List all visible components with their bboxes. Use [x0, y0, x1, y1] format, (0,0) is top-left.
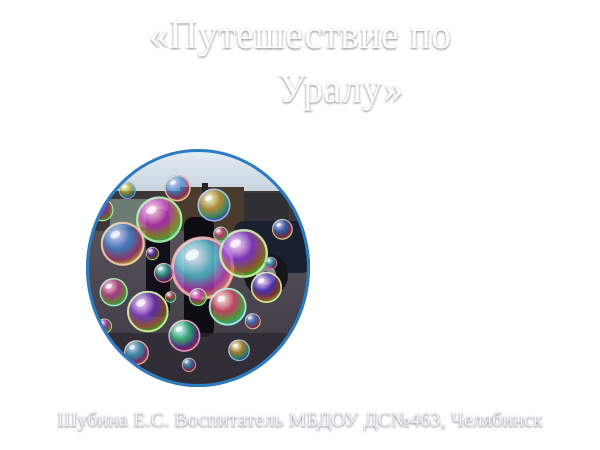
bubbles-photo-svg — [84, 147, 312, 389]
presentation-slide: «Путешествие по Уралу» — [0, 0, 600, 450]
circular-photo-bubbles — [84, 147, 312, 389]
title-line-2: Уралу» — [0, 62, 600, 116]
author-attribution: Шубина Е.С. Воспитатель МБДОУ ДС№463, Че… — [0, 407, 600, 433]
page-title: «Путешествие по Уралу» — [0, 8, 600, 116]
title-line-1: «Путешествие по — [0, 8, 600, 62]
